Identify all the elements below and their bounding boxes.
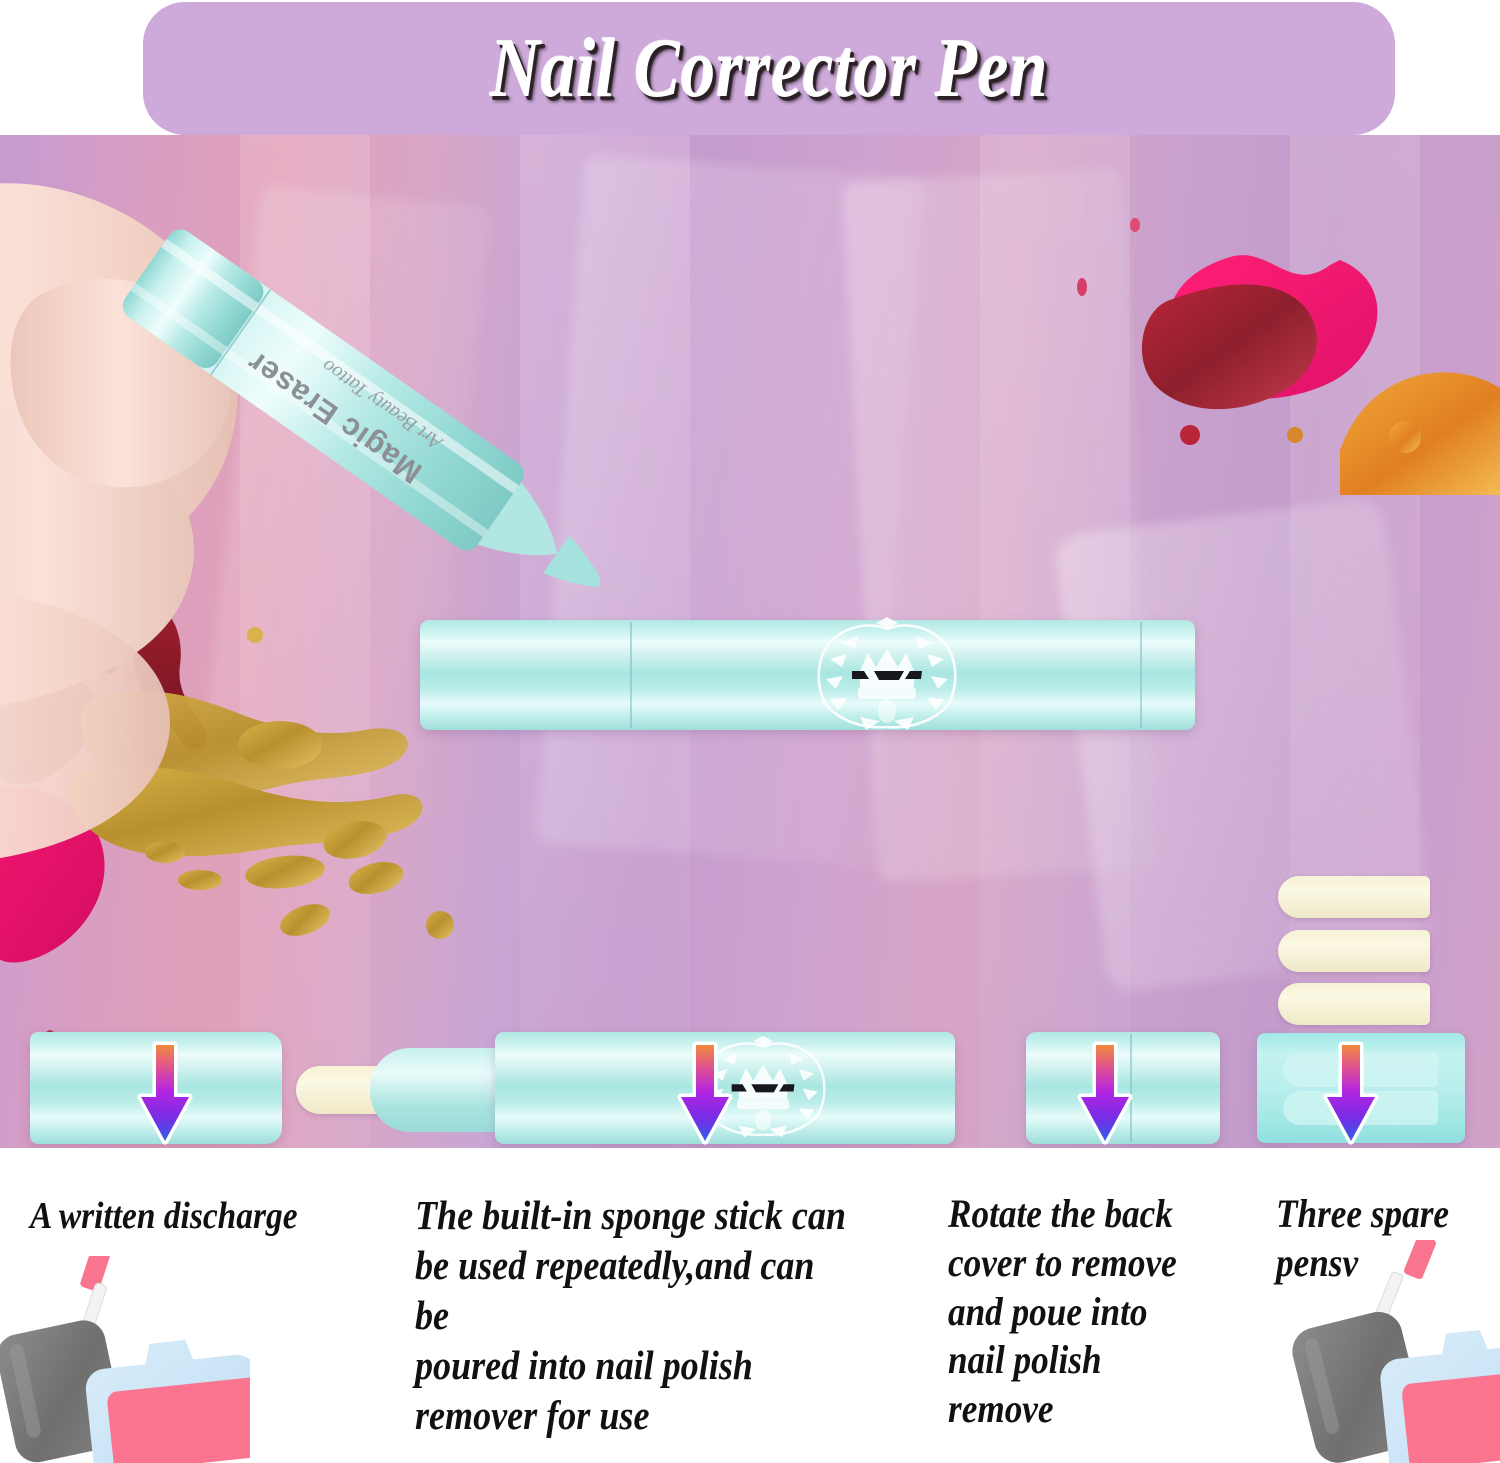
pen-seam	[630, 622, 632, 728]
product-infographic: Nail Corrector Pen	[0, 0, 1500, 1463]
caption-strip: A written discharge The built-in sponge …	[0, 1148, 1500, 1463]
spare-sponge-tip	[1278, 876, 1430, 918]
product-photo-stage: Magic Eraser Art Beauty Tattoo	[0, 135, 1500, 1148]
title-banner: Nail Corrector Pen	[143, 2, 1395, 135]
callout-2-text: The built-in sponge stick can be used re…	[415, 1190, 915, 1440]
down-arrow-gradient	[674, 1041, 736, 1145]
callout-1-text: A written discharge	[30, 1193, 390, 1239]
hand-holding-pen: Magic Eraser Art Beauty Tattoo	[0, 135, 600, 915]
crown-laurel-crest	[790, 613, 985, 735]
spare-sponge-tip	[1278, 930, 1430, 972]
pen-seam	[1140, 622, 1142, 728]
nail-polish-bottle-right	[1255, 1240, 1500, 1463]
nail-polish-bottle-left	[0, 1256, 250, 1463]
glossy-panel	[1053, 497, 1437, 994]
spare-sponge-tip	[1278, 983, 1430, 1025]
down-arrow-gradient	[1320, 1041, 1382, 1145]
down-arrow-gradient	[1074, 1041, 1136, 1145]
page-title: Nail Corrector Pen	[490, 27, 1048, 111]
callout-3-text: Rotate the back cover to remove and poue…	[948, 1190, 1248, 1434]
down-arrow-gradient	[134, 1041, 196, 1145]
pen-nose-cone	[370, 1048, 510, 1132]
splash-layer-top-right	[1040, 165, 1500, 495]
